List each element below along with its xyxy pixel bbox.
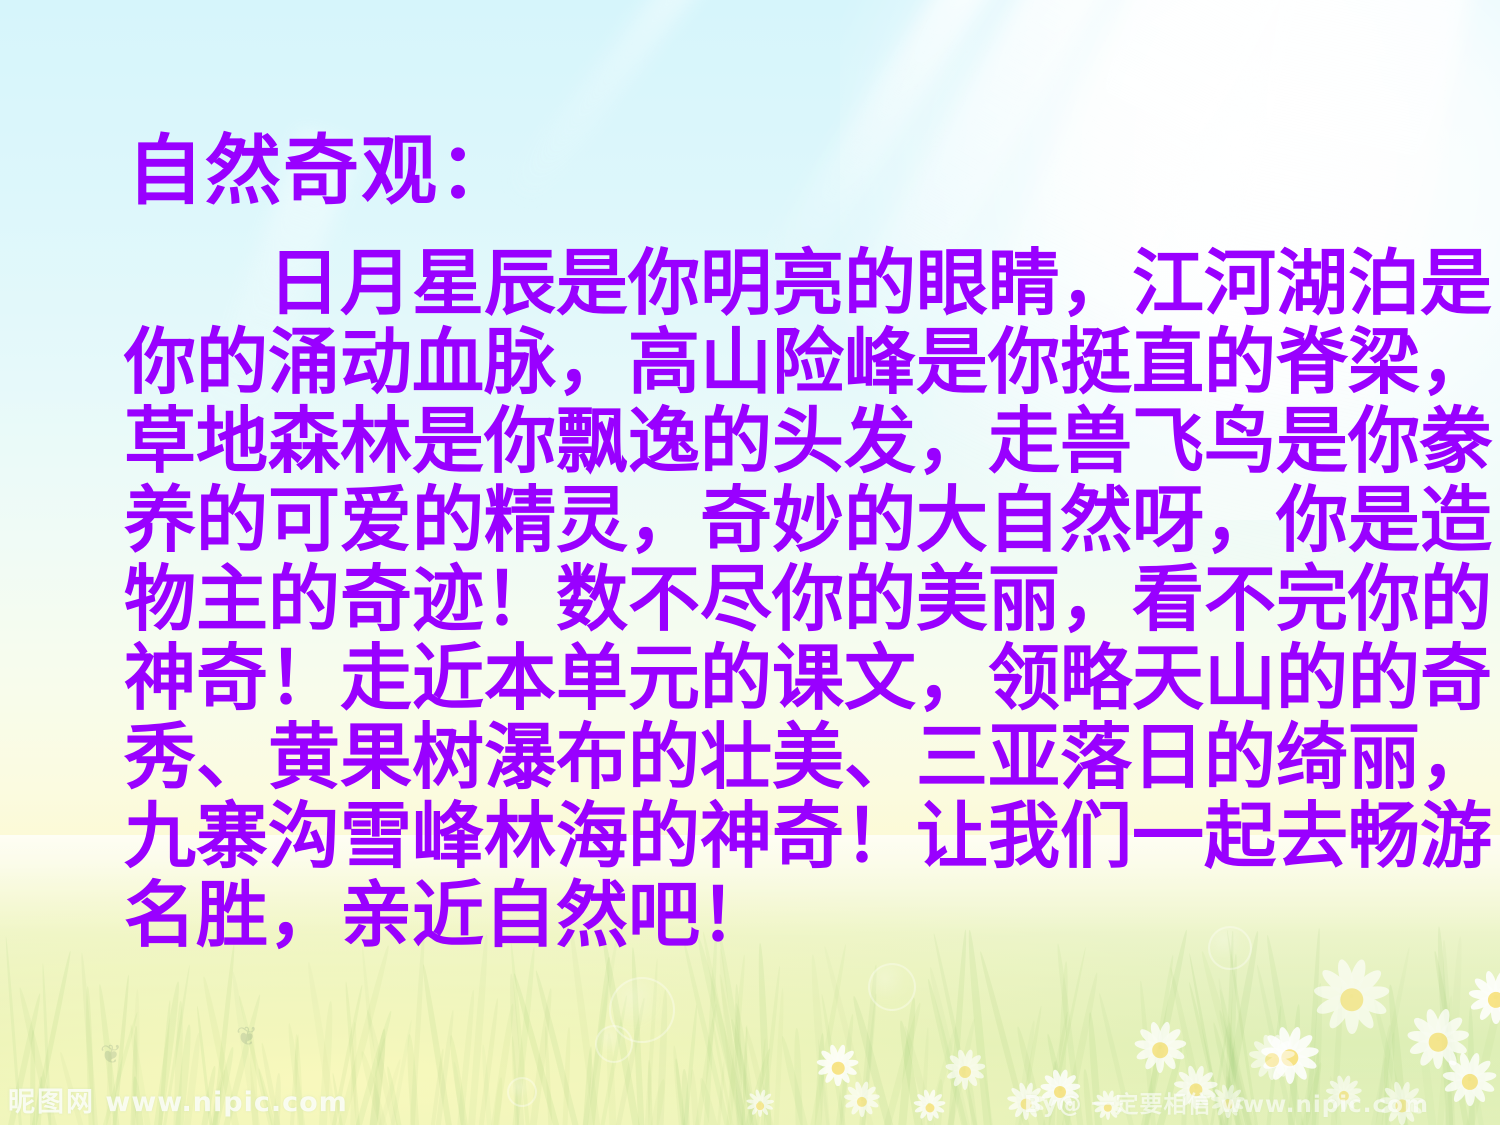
body-line: 神奇！走近本单元的课文，领略天山的的奇 (124, 639, 1500, 718)
page-title: 自然奇观： (127, 131, 517, 211)
watermark-right: By@ 一定要相信 www.nipic.com (1024, 1085, 1429, 1119)
watermark-brand: 昵图网 (8, 1087, 95, 1118)
body-line: 秀、黄果树瀑布的壮美、三亚落日的绮丽， (124, 718, 1500, 797)
body-line: 名胜，亲近自然吧！ (124, 876, 1500, 955)
body-line: 你的涌动血脉，高山险峰是你挺直的脊梁， (124, 323, 1500, 402)
body-line: 日月星辰是你明亮的眼睛，江河湖泊是 (124, 244, 1500, 323)
presentation-slide: ❦❦ 自然奇观： 日月星辰是你明亮的眼睛，江河湖泊是你的涌动血脉，高山险峰是你挺… (0, 0, 1500, 1125)
body-line: 草地森林是你飘逸的头发，走兽飞鸟是你豢 (124, 402, 1500, 481)
body-line: 养的可爱的精灵，奇妙的大自然呀，你是造 (124, 481, 1500, 560)
slide-text-block: 自然奇观： 日月星辰是你明亮的眼睛，江河湖泊是你的涌动血脉，高山险峰是你挺直的脊… (0, 0, 1500, 1125)
watermark-left: 昵图网 www.nipic.com (8, 1080, 348, 1119)
body-line: 物主的奇迹！数不尽你的美丽，看不完你的 (124, 560, 1500, 639)
body-line: 九寨沟雪峰林海的神奇！让我们一起去畅游 (124, 797, 1500, 876)
body-paragraph: 日月星辰是你明亮的眼睛，江河湖泊是你的涌动血脉，高山险峰是你挺直的脊梁，草地森林… (124, 244, 1500, 955)
watermark-url: www.nipic.com (105, 1087, 347, 1118)
